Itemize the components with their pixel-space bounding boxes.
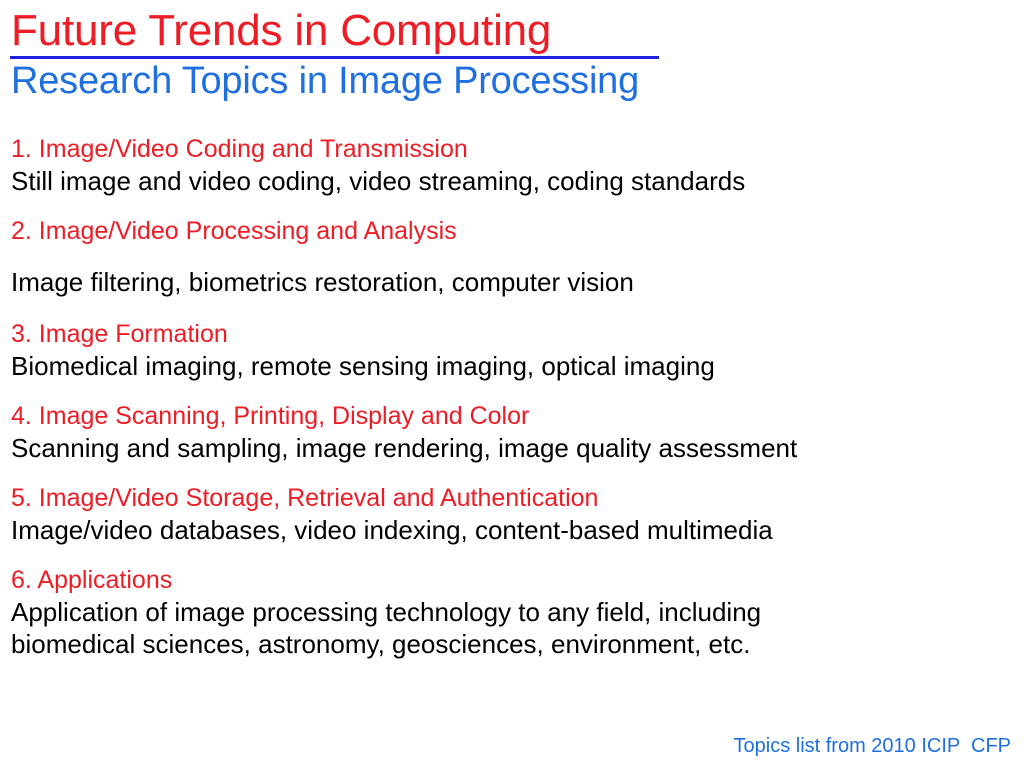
page-title: Future Trends in Computing	[11, 8, 1011, 54]
topic-heading: 6. Applications	[11, 565, 1016, 596]
topic-body: Image/video databases, video indexing, c…	[11, 514, 1016, 546]
slide-canvas: Future Trends in Computing Research Topi…	[0, 0, 1024, 768]
topics-list: 1. Image/Video Coding and Transmission S…	[11, 134, 1016, 679]
topic-heading: 1. Image/Video Coding and Transmission	[11, 134, 1016, 165]
topic-body: Scanning and sampling, image rendering, …	[11, 432, 1016, 464]
topic-heading: 4. Image Scanning, Printing, Display and…	[11, 401, 1016, 432]
topic-item-4: 4. Image Scanning, Printing, Display and…	[11, 401, 1016, 464]
topic-item-2: 2. Image/Video Processing and Analysis I…	[11, 216, 1016, 298]
topic-item-1: 1. Image/Video Coding and Transmission S…	[11, 134, 1016, 197]
source-attribution: Topics list from 2010 ICIP CFP	[734, 734, 1012, 758]
title-underline-rule	[10, 56, 659, 59]
topic-item-6: 6. Applications Application of image pro…	[11, 565, 1016, 660]
topic-heading: 2. Image/Video Processing and Analysis	[11, 216, 1016, 247]
topic-item-3: 3. Image Formation Biomedical imaging, r…	[11, 319, 1016, 382]
topic-body: Application of image processing technolo…	[11, 596, 1016, 660]
topic-body: Still image and video coding, video stre…	[11, 165, 1016, 197]
topic-heading: 3. Image Formation	[11, 319, 1016, 350]
topic-heading: 5. Image/Video Storage, Retrieval and Au…	[11, 483, 1016, 514]
topic-body: Image filtering, biometrics restoration,…	[11, 266, 1016, 298]
topic-item-5: 5. Image/Video Storage, Retrieval and Au…	[11, 483, 1016, 546]
topic-body: Biomedical imaging, remote sensing imagi…	[11, 350, 1016, 382]
title-block: Future Trends in Computing Research Topi…	[11, 8, 1011, 102]
page-subtitle: Research Topics in Image Processing	[11, 60, 1011, 102]
